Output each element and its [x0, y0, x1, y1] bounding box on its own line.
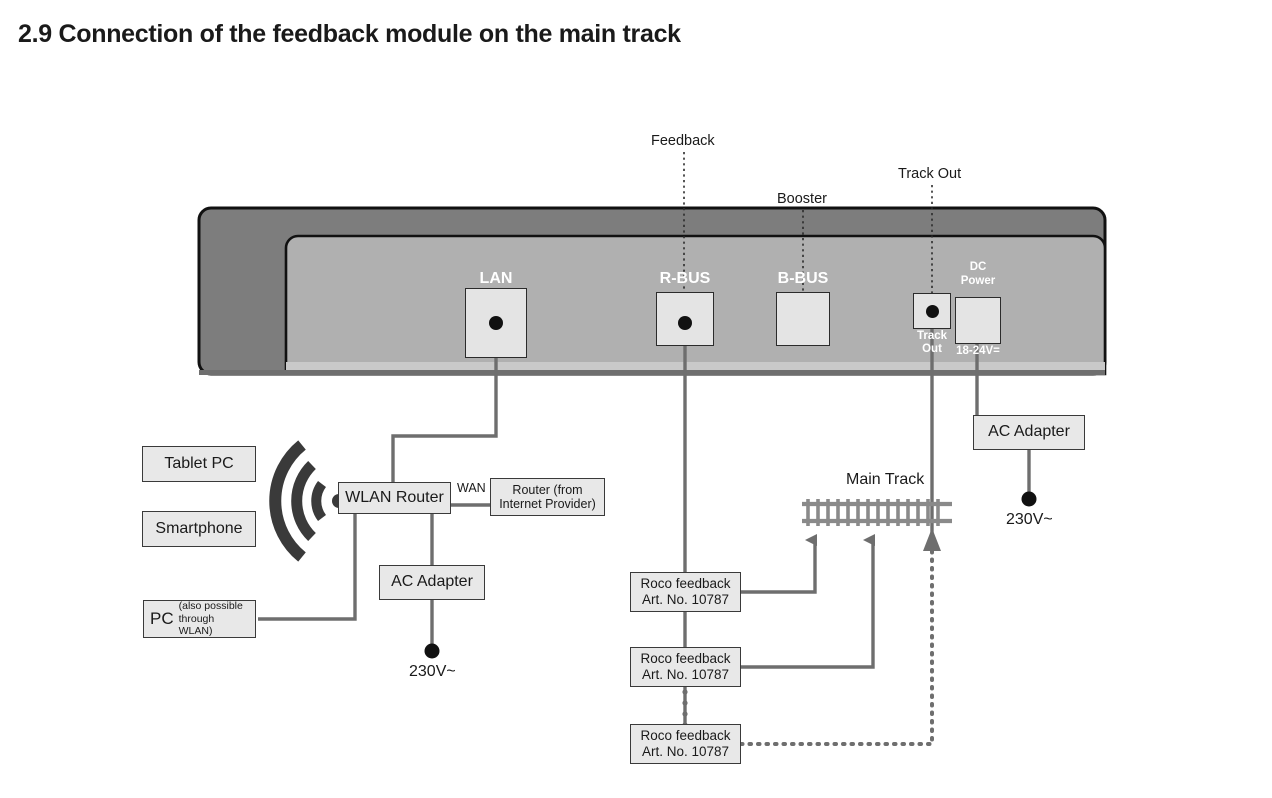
port-dc-power-label-line1: DC [928, 261, 1028, 274]
mains-dot-left [425, 644, 440, 659]
port-bbus-label: B-BUS [742, 270, 864, 288]
tablet-pc-box[interactable]: Tablet PC [142, 446, 256, 482]
pc-sub-line2: through WLAN) [179, 613, 215, 637]
feedback-module-box[interactable]: Roco feedback Art. No. 10787 [630, 572, 741, 612]
feedback-module-line2: Art. No. 10787 [642, 592, 729, 608]
port-track-out-pin [926, 305, 939, 318]
wire-fb1-to-track [741, 540, 815, 592]
port-lan-pin [489, 316, 503, 330]
isp-router-line1: Router (from [512, 483, 582, 497]
mains-label-left: 230V~ [409, 663, 456, 681]
pc-box[interactable]: PC (also possible through WLAN) [143, 600, 256, 638]
callout-booster: Booster [777, 191, 827, 207]
ac-adapter-left-box[interactable]: AC Adapter [379, 565, 485, 600]
wlan-router-box[interactable]: WLAN Router [338, 482, 451, 514]
main-track [802, 499, 952, 526]
feedback-module-box[interactable]: Roco feedback Art. No. 10787 [630, 724, 741, 764]
feedback-module-line1: Roco feedback [640, 576, 730, 592]
main-track-label: Main Track [846, 471, 924, 489]
pc-sub-line1: (also possible [179, 600, 243, 612]
smartphone-box[interactable]: Smartphone [142, 511, 256, 547]
feedback-module-line2: Art. No. 10787 [642, 744, 729, 760]
feedback-module-line2: Art. No. 10787 [642, 667, 729, 683]
wire-fb3-arrowhead [923, 528, 941, 551]
wire-fb3-dotted [741, 545, 932, 744]
mains-label-right: 230V~ [1006, 511, 1053, 529]
callout-track-out: Track Out [898, 166, 961, 182]
pc-sublabel: (also possible through WLAN) [179, 600, 249, 637]
wan-label: WAN [455, 481, 488, 495]
feedback-module-line1: Roco feedback [640, 651, 730, 667]
pc-label: PC [150, 609, 174, 629]
port-bbus[interactable] [776, 292, 830, 346]
dc-voltage-label: 18-24V= [928, 345, 1028, 358]
isp-router-line2: Internet Provider) [499, 497, 596, 511]
feedback-module-box[interactable]: Roco feedback Art. No. 10787 [630, 647, 741, 687]
wire-fb2-to-track [741, 540, 873, 667]
ac-adapter-right-box[interactable]: AC Adapter [973, 415, 1085, 450]
feedback-module-line1: Roco feedback [640, 728, 730, 744]
port-rbus-pin [678, 316, 692, 330]
port-rbus-label: R-BUS [624, 270, 746, 288]
isp-router-box[interactable]: Router (from Internet Provider) [490, 478, 605, 516]
diagram-canvas: 2.9 Connection of the feedback module on… [0, 0, 1272, 798]
callout-feedback: Feedback [651, 133, 715, 149]
wires [258, 311, 1029, 760]
mains-dot-right [1022, 492, 1037, 507]
wlan-signal-icon [275, 445, 322, 557]
port-lan-label: LAN [435, 270, 557, 288]
port-dc-power[interactable] [955, 297, 1001, 344]
port-dc-power-label-line2: Power [928, 275, 1028, 288]
